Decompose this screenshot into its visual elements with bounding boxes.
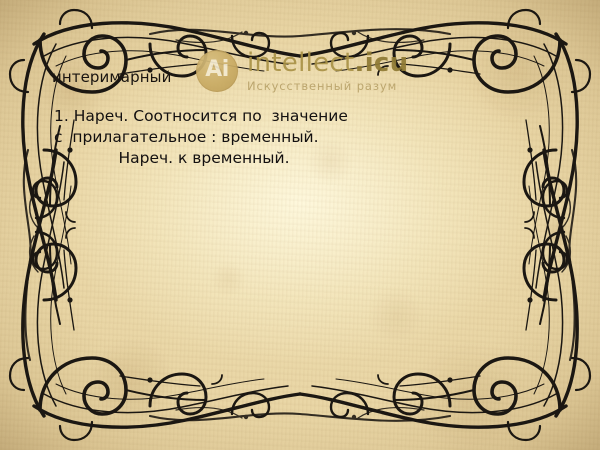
- watermark-title-bold: .icu: [355, 48, 409, 78]
- watermark-text: intellect.icu Искусственный разум: [247, 50, 408, 93]
- definition-line: Нареч. к временный.: [54, 148, 354, 169]
- definition-line: с прилагательное : временный.: [54, 127, 484, 148]
- definition-block: 1. Нареч. Соотносится по значение с прил…: [54, 106, 484, 169]
- ai-badge-label: Ai: [205, 59, 229, 81]
- watermark-logo: Ai intellect.icu Искусственный разум: [196, 50, 408, 93]
- ai-badge-icon: Ai: [196, 50, 238, 92]
- watermark-title-light: intellect: [247, 48, 355, 78]
- definition-line: 1. Нареч. Соотносится по значение: [54, 106, 484, 127]
- headword: интеримарный: [52, 68, 171, 86]
- watermark-subtitle: Искусственный разум: [247, 81, 408, 93]
- parchment-dictionary-card: Ai intellect.icu Искусственный разум инт…: [0, 0, 600, 450]
- watermark-title: intellect.icu: [247, 50, 408, 76]
